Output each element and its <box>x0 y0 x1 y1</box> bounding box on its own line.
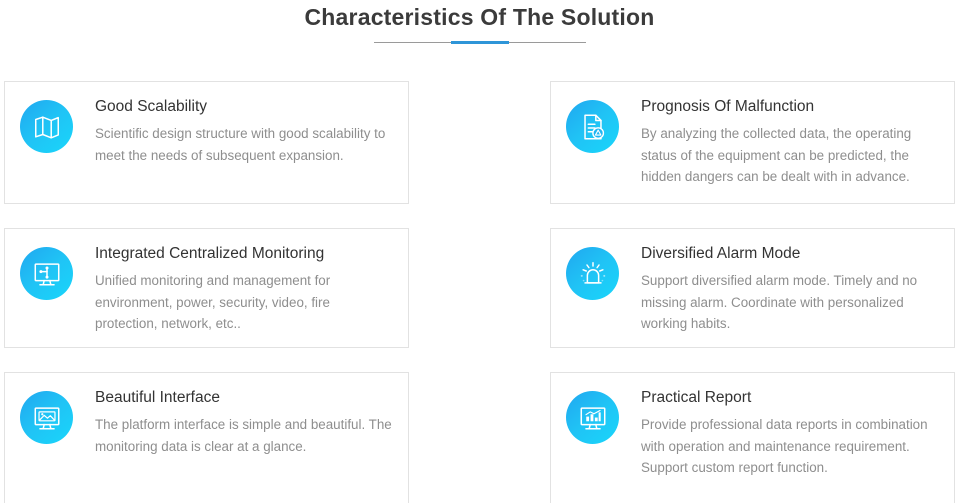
page-title: Characteristics Of The Solution <box>0 0 959 32</box>
feature-card-description: Support diversified alarm mode. Timely a… <box>641 270 942 335</box>
page-header: Characteristics Of The Solution <box>0 0 959 62</box>
feature-card-description: The platform interface is simple and bea… <box>95 414 396 457</box>
feature-card-description: Scientific design structure with good sc… <box>95 123 396 166</box>
feature-card-diversified-alarm-mode[interactable]: Diversified Alarm Mode Support diversifi… <box>550 228 955 348</box>
title-underline <box>374 41 586 44</box>
feature-card-body: Good Scalability Scientific design struc… <box>73 96 396 166</box>
feature-card-beautiful-interface[interactable]: Beautiful Interface The platform interfa… <box>4 372 409 503</box>
feature-card-body: Beautiful Interface The platform interfa… <box>73 387 396 457</box>
feature-card-description: Unified monitoring and management for en… <box>95 270 396 335</box>
feature-card-title: Integrated Centralized Monitoring <box>95 244 396 264</box>
feature-card-body: Integrated Centralized Monitoring Unifie… <box>73 243 396 335</box>
feature-card-title: Prognosis Of Malfunction <box>641 97 942 117</box>
monitor-image-icon <box>20 391 73 444</box>
document-warning-icon <box>566 100 619 153</box>
feature-card-body: Diversified Alarm Mode Support diversifi… <box>619 243 942 335</box>
folded-map-icon <box>20 100 73 153</box>
feature-card-good-scalability[interactable]: Good Scalability Scientific design struc… <box>4 81 409 204</box>
feature-card-description: By analyzing the collected data, the ope… <box>641 123 942 188</box>
feature-card-body: Practical Report Provide professional da… <box>619 387 942 479</box>
feature-card-description: Provide professional data reports in com… <box>641 414 942 479</box>
page-root: Characteristics Of The Solution Good Sca… <box>0 0 959 503</box>
title-underline-accent <box>451 41 509 44</box>
monitor-network-icon <box>20 247 73 300</box>
feature-card-title: Beautiful Interface <box>95 388 396 408</box>
feature-card-integrated-centralized-monitoring[interactable]: Integrated Centralized Monitoring Unifie… <box>4 228 409 348</box>
alarm-siren-icon <box>566 247 619 300</box>
feature-card-practical-report[interactable]: Practical Report Provide professional da… <box>550 372 955 503</box>
monitor-chart-icon <box>566 391 619 444</box>
feature-card-title: Practical Report <box>641 388 942 408</box>
feature-card-title: Diversified Alarm Mode <box>641 244 942 264</box>
feature-card-prognosis-of-malfunction[interactable]: Prognosis Of Malfunction By analyzing th… <box>550 81 955 204</box>
feature-card-title: Good Scalability <box>95 97 396 117</box>
feature-card-body: Prognosis Of Malfunction By analyzing th… <box>619 96 942 188</box>
features-grid: Good Scalability Scientific design struc… <box>4 81 955 503</box>
